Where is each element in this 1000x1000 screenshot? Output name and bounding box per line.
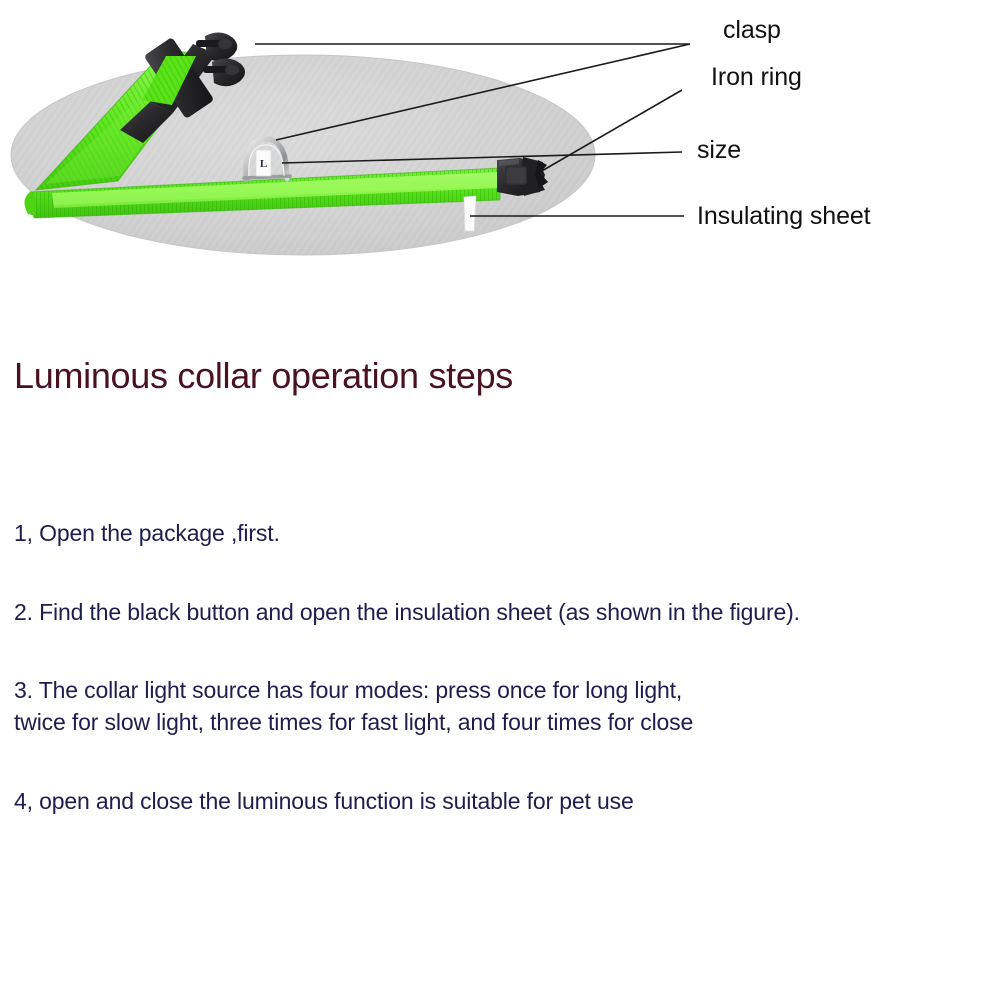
product-illustration: L [0,0,1000,320]
step-item-3: 3. The collar light source has four mode… [14,675,974,738]
product-figure: L clasp Iron ring size Insu [0,0,1000,320]
callout-label-insulating-sheet: Insulating sheet [697,202,871,231]
callout-label-size: size [697,136,741,165]
section-heading: Luminous collar operation steps [14,355,513,397]
callout-label-iron-ring: Iron ring [711,63,802,92]
callout-label-clasp: clasp [723,16,781,45]
insulating-sheet-tab [464,196,476,231]
size-tag: L [256,150,271,176]
operation-steps-list: 1, Open the package ,first. 2. Find the … [14,518,974,818]
step-item-1: 1, Open the package ,first. [14,518,974,550]
side-release-buckle-right [497,157,548,196]
step-item-2: 2. Find the black button and open the in… [14,597,974,629]
svg-text:L: L [260,158,267,170]
step-item-4: 4, open and close the luminous function … [14,786,974,818]
